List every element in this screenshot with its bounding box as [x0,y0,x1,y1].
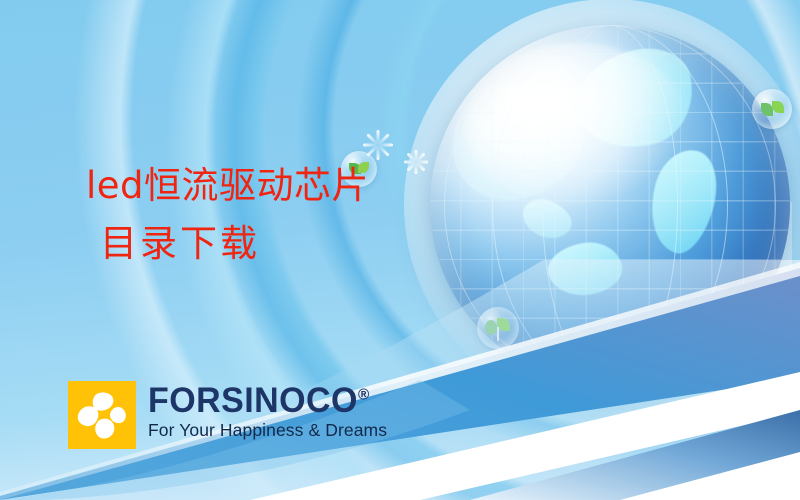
registered-trademark-icon: ® [358,386,370,403]
logo-tagline: For Your Happiness & Dreams [148,420,387,441]
bubble-with-leaf-icon-3 [752,89,792,129]
promo-banner: led恒流驱动芯片 目录下载 FORSINOCO® For Your Happi… [0,0,800,500]
headline-line-2: 目录下载 [100,222,369,266]
logo-text-block: FORSINOCO® For Your Happiness & Dreams [148,381,387,441]
headline-block: led恒流驱动芯片 目录下载 [86,164,369,265]
starburst-sparkle-icon-small [404,150,428,174]
diagonal-ribbons [0,260,800,500]
logo-wordmark: FORSINOCO® [148,383,380,418]
logo-wordmark-text: FORSINOCO [148,381,358,420]
headline-line-1: led恒流驱动芯片 [86,164,369,208]
company-logo: FORSINOCO® For Your Happiness & Dreams [68,381,387,449]
pinwheel-flower-icon [68,381,136,449]
leaf-shape-6 [772,101,784,113]
